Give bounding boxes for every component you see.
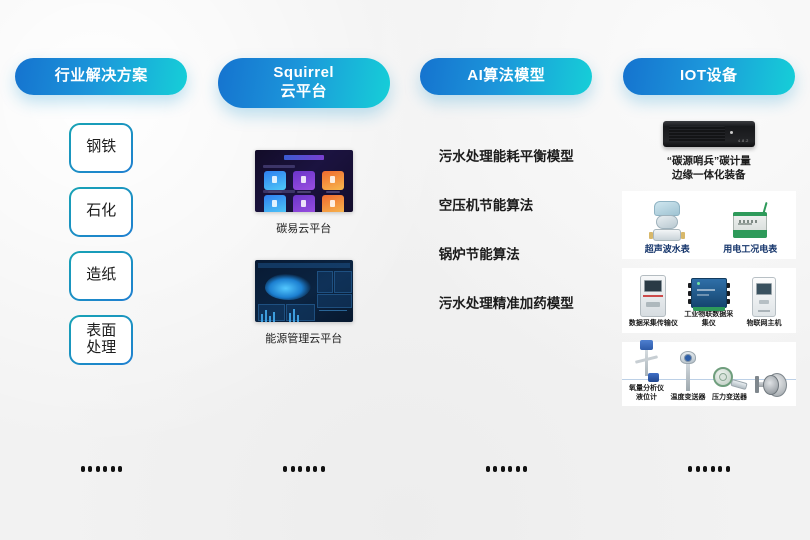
industry-item-label: 表面 处理	[86, 323, 116, 357]
header-label-line1: Squirrel	[240, 64, 368, 83]
iot-device-gallery: 4.8.2 “碳源哨兵”碳计量 边缘一体化装备	[608, 121, 810, 407]
column-iot-devices: IOT设备 4.8.2 “碳源哨兵”碳计量 边缘一体化装备	[608, 0, 810, 540]
column-header-cloud-platform[interactable]: Squirrel 云平台	[218, 58, 390, 108]
server-model-label: 4.8.2	[738, 138, 749, 143]
industry-item-label: 石化	[86, 203, 116, 220]
more-dots-industry	[81, 466, 123, 472]
device-ultrasonic-water-meter[interactable]: 超声波水表	[626, 197, 709, 255]
flange-sensor-icon	[755, 373, 787, 399]
industry-item-label: 钢铁	[86, 139, 116, 156]
device-caption: 压力变送器	[712, 394, 747, 403]
platform-card-carbon-cloud[interactable]: 碳易云平台	[255, 150, 353, 236]
column-cloud-platform: Squirrel 云平台 碳易云平台	[203, 0, 406, 540]
iot-host-icon	[752, 277, 776, 317]
device-oxygen-analyzer[interactable]: 氧量分析仪 液位计	[626, 348, 668, 403]
device-caption: 氧量分析仪 液位计	[629, 385, 664, 403]
device-panel-meters: 超声波水表 用电工况电表	[622, 191, 796, 259]
industry-item-papermaking[interactable]: 造纸	[69, 251, 133, 301]
column-industry-solutions: 行业解决方案 钢铁 石化 造纸 表面 处理	[0, 0, 203, 540]
energy-management-dashboard-screenshot	[255, 260, 353, 322]
industry-item-label: 造纸	[86, 267, 116, 284]
device-iot-host[interactable]: 物联网主机	[736, 283, 791, 329]
oxygen-analyzer-icon	[634, 340, 660, 382]
carbon-cloud-dashboard-screenshot	[255, 150, 353, 212]
column-ai-algorithms: AI算法模型 污水处理能耗平衡模型 空压机节能算法 锅炉节能算法 污水处理精准加…	[405, 0, 608, 540]
device-data-acquisition-terminal[interactable]: 数据采集传输仪	[626, 283, 681, 329]
more-dots-cloud-platform	[283, 466, 325, 472]
platform-card-energy-management[interactable]: 能源管理云平台	[255, 260, 353, 346]
device-caption: 数据采集传输仪	[629, 320, 678, 329]
header-label: 行业解决方案	[55, 67, 148, 84]
temperature-transmitter-icon	[678, 351, 698, 391]
platform-caption: 能源管理云平台	[265, 330, 342, 346]
pressure-transmitter-icon	[713, 365, 747, 391]
device-panel-acquisition: 数据采集传输仪 工业物联数据采集仪	[622, 268, 796, 333]
device-caption: 物联网主机	[747, 320, 782, 329]
device-caption: 工业物联数据采集仪	[681, 311, 736, 329]
industry-item-surface-treatment[interactable]: 表面 处理	[69, 315, 133, 365]
flagship-device-card[interactable]: 4.8.2 “碳源哨兵”碳计量 边缘一体化装备	[663, 121, 755, 182]
algorithm-list: 污水处理能耗平衡模型 空压机节能算法 锅炉节能算法 污水处理精准加药模型	[439, 145, 574, 312]
industrial-iot-gateway-icon	[691, 278, 727, 308]
algorithm-item-wastewater-energy-balance[interactable]: 污水处理能耗平衡模型	[439, 145, 574, 165]
algorithm-item-boiler-saving[interactable]: 锅炉节能算法	[439, 243, 520, 263]
platform-caption: 碳易云平台	[276, 220, 331, 236]
flagship-device-caption: “碳源哨兵”碳计量 边缘一体化装备	[667, 154, 751, 182]
industry-box-list: 钢铁 石化 造纸 表面 处理	[69, 123, 133, 365]
device-caption: 温度变送器	[671, 394, 706, 403]
device-power-consumption-meter[interactable]: 用电工况电表	[709, 197, 792, 255]
column-header-ai-algorithms[interactable]: AI算法模型	[420, 58, 592, 95]
header-label: AI算法模型	[467, 67, 545, 84]
data-acquisition-terminal-icon	[640, 275, 666, 317]
algorithm-item-air-compressor-saving[interactable]: 空压机节能算法	[439, 194, 534, 214]
edge-server-icon: 4.8.2	[663, 121, 755, 147]
device-panel-transmitters: 氧量分析仪 液位计 温度变送器	[622, 342, 796, 407]
device-caption: 超声波水表	[645, 244, 690, 255]
more-dots-iot-devices	[688, 466, 730, 472]
column-header-industry-solutions[interactable]: 行业解决方案	[15, 58, 187, 95]
device-caption: 用电工况电表	[723, 244, 777, 255]
device-caption-secondary: 液位计	[629, 394, 664, 403]
header-label: IOT设备	[680, 67, 738, 84]
device-flange-sensor[interactable]	[750, 365, 792, 402]
industry-item-petrochemical[interactable]: 石化	[69, 187, 133, 237]
electric-meter-icon	[731, 205, 769, 241]
water-meter-icon	[652, 201, 682, 241]
algorithm-item-wastewater-precise-dosing[interactable]: 污水处理精准加药模型	[439, 292, 574, 312]
more-dots-ai-algorithms	[486, 466, 528, 472]
solution-architecture-board: 行业解决方案 钢铁 石化 造纸 表面 处理	[0, 0, 810, 540]
device-industrial-iot-gateway[interactable]: 工业物联数据采集仪	[681, 274, 736, 329]
device-pressure-transmitter[interactable]: 压力变送器	[709, 357, 751, 403]
industry-item-steel[interactable]: 钢铁	[69, 123, 133, 173]
column-header-iot-devices[interactable]: IOT设备	[623, 58, 795, 95]
header-label-line2: 云平台	[240, 83, 368, 102]
